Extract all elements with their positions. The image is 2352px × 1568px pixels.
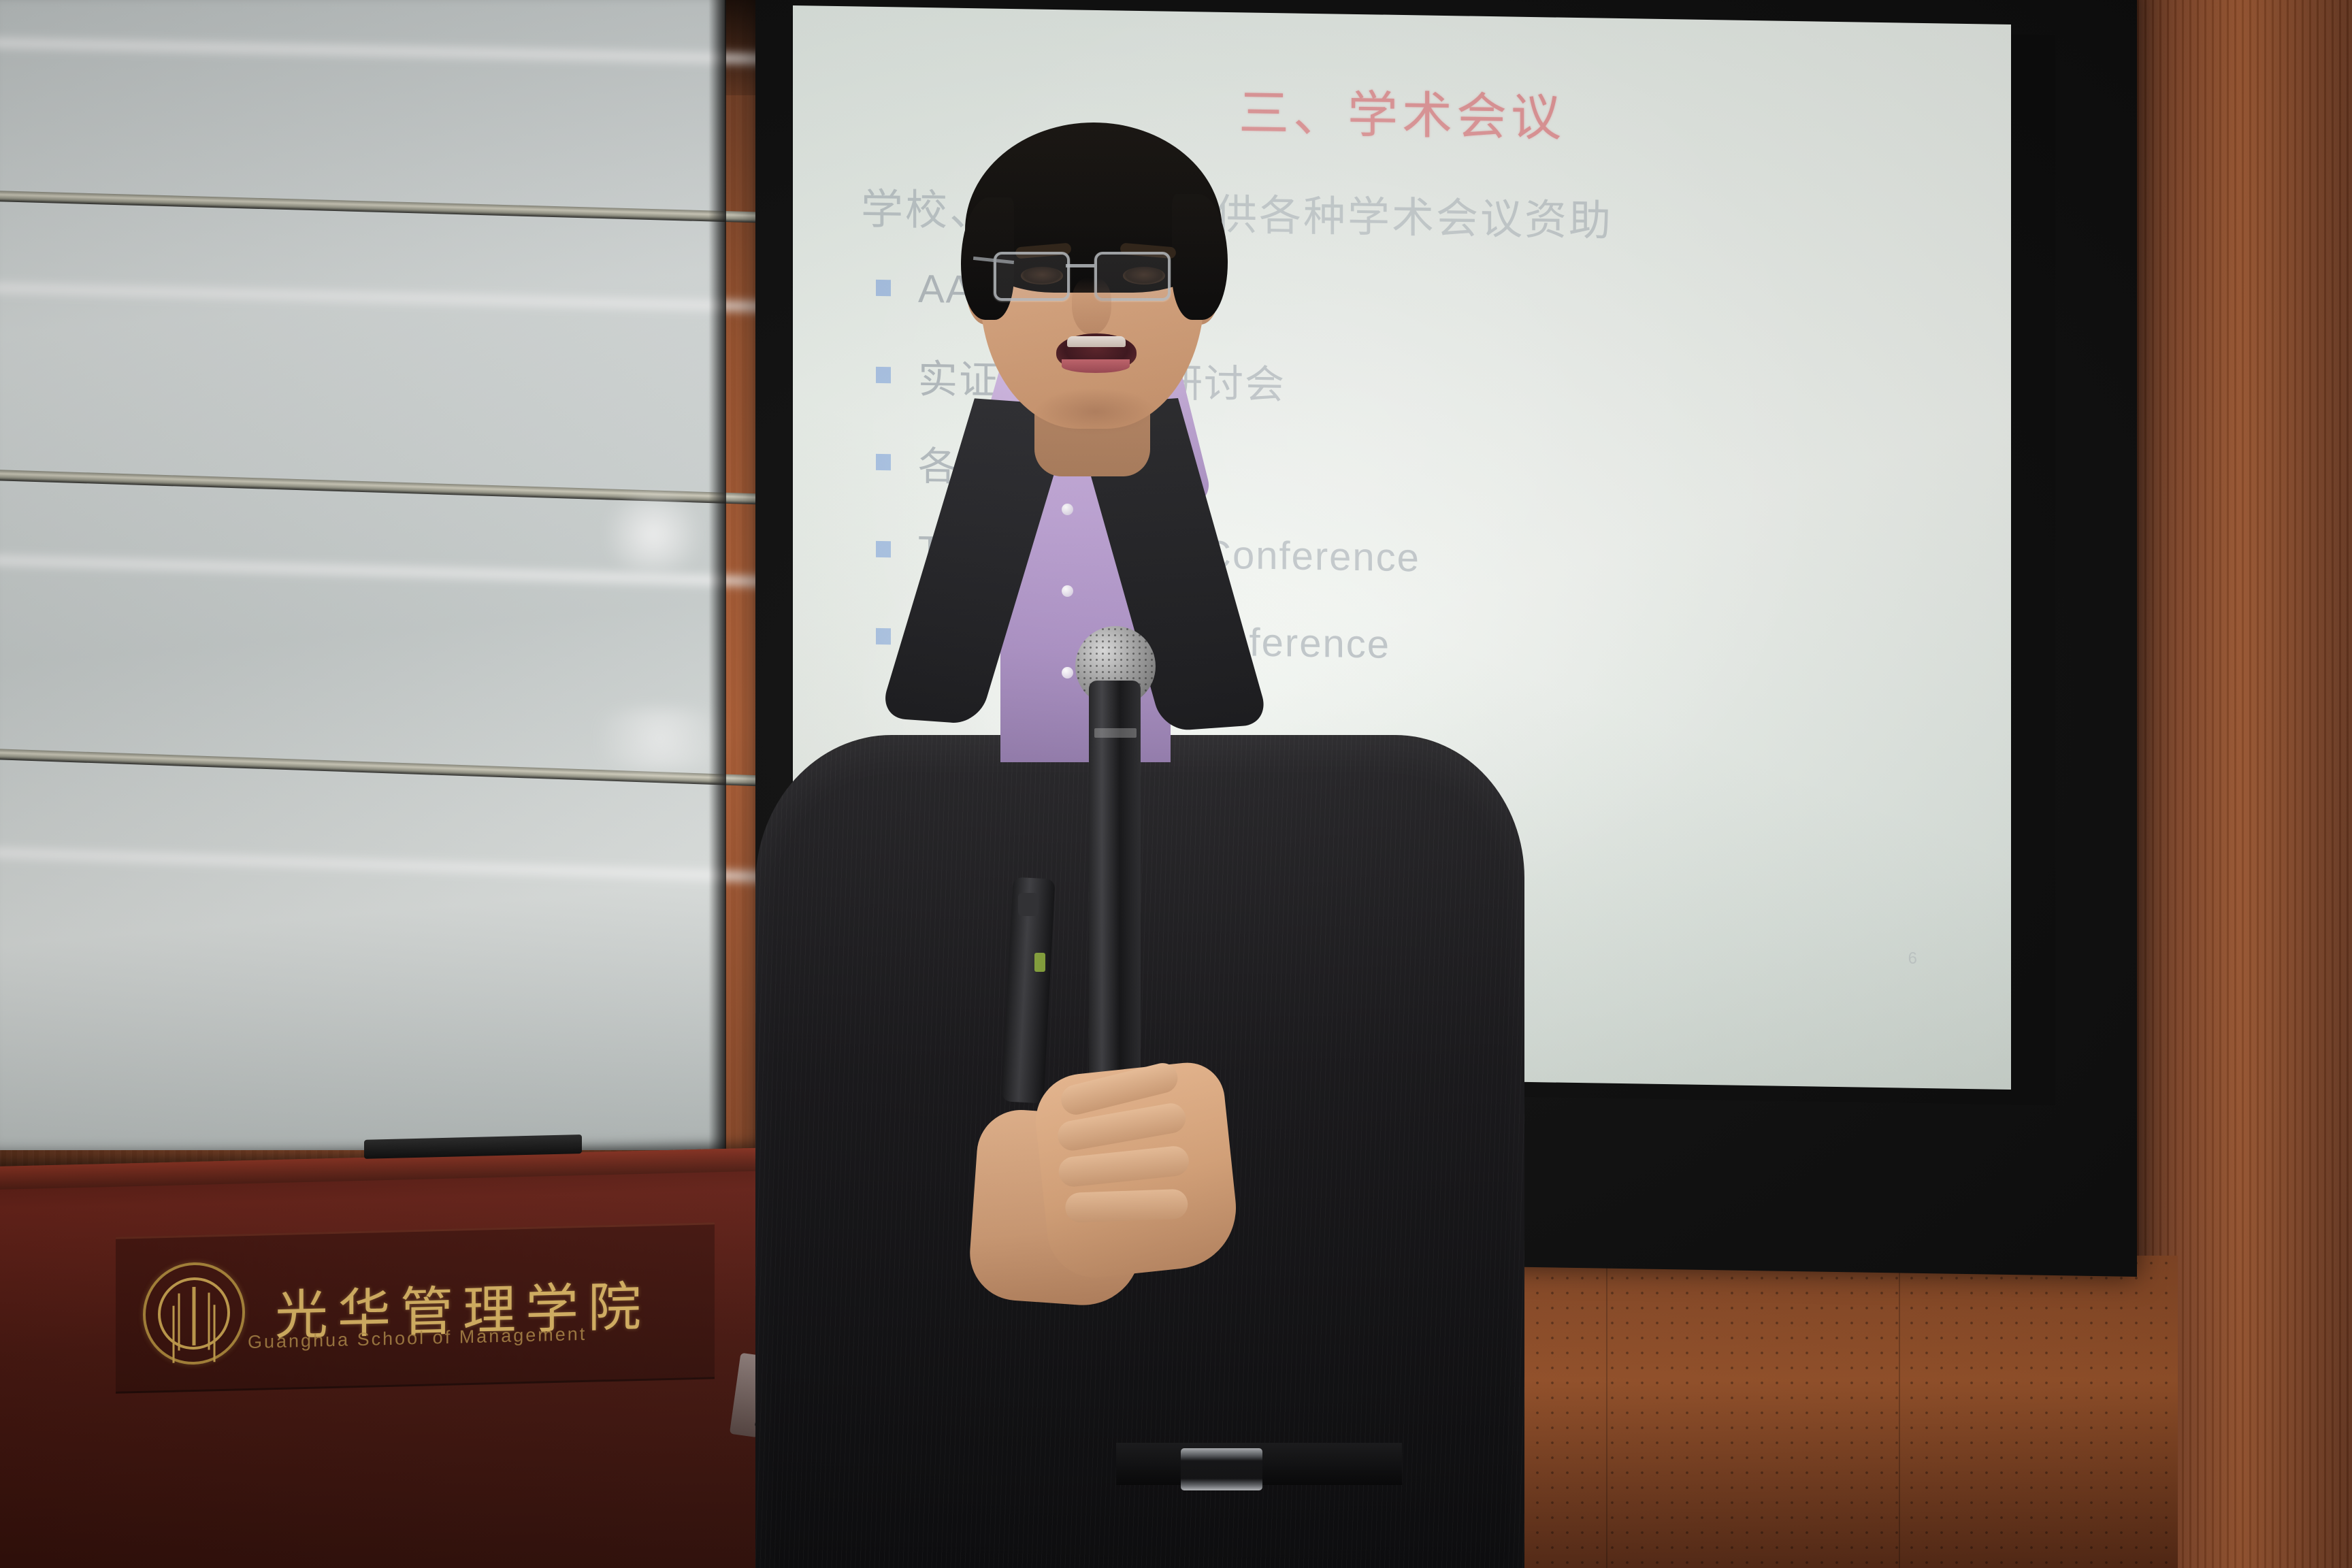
nose [1072,278,1111,335]
speaker-person [681,381,1565,1568]
belt-buckle [1181,1448,1262,1490]
hand-right [1031,1059,1242,1282]
teeth [1067,336,1126,347]
presenter-remote-button[interactable] [1018,893,1039,916]
photo-scene: 三、学术会议 学校、学院和系提供各种学术会议资助 AAA 实证会计国际研讨会 各… [0,0,2352,1568]
eyeglasses-bridge [1066,264,1094,267]
lectern-podium: 光华管理学院 Guanghua School of Management [0,1147,789,1568]
podium-name-plate: 光华管理学院 [116,1222,715,1394]
whiteboard [0,0,725,1150]
square-bullet-icon [876,280,891,296]
lower-lip [1062,359,1130,373]
peking-university-seal-icon [143,1261,245,1366]
microphone-brand-label [1094,728,1137,738]
presenter-remote-led [1034,953,1045,972]
slide-title: 三、学术会议 [840,66,1963,157]
whiteboard-rail-top [0,191,798,224]
slide-page-number: 6 [1908,949,1917,968]
